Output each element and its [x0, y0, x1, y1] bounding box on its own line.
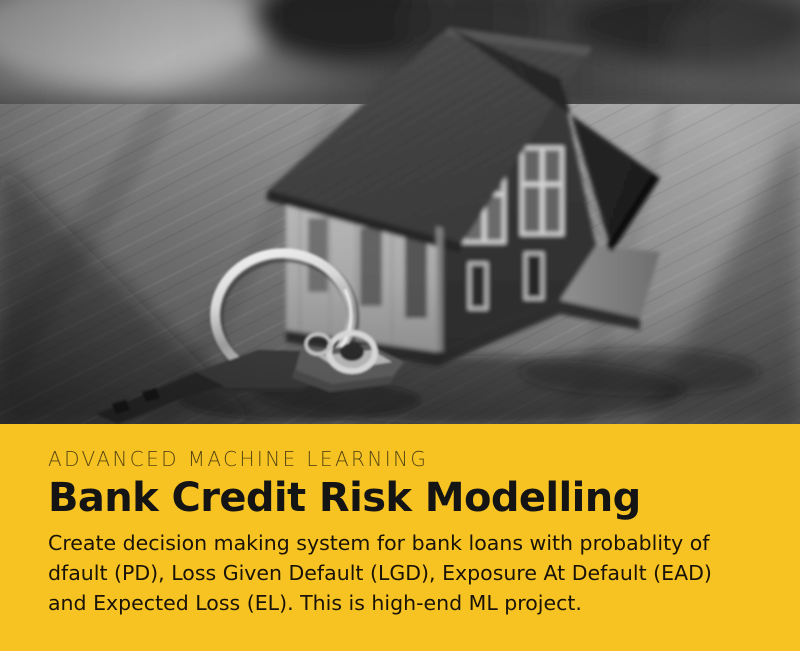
- description-line: dfault (PD), Loss Given Default (LGD), E…: [48, 558, 752, 588]
- card-description: Create decision making system for bank l…: [48, 528, 752, 618]
- course-promo-card: ADVANCED MACHINE LEARNING Bank Credit Ri…: [0, 0, 800, 651]
- info-band: ADVANCED MACHINE LEARNING Bank Credit Ri…: [0, 424, 800, 651]
- description-line: Create decision making system for bank l…: [48, 528, 752, 558]
- hero-photo: [0, 0, 800, 424]
- category-eyebrow: ADVANCED MACHINE LEARNING: [48, 448, 752, 470]
- page-title: Bank Credit Risk Modelling: [48, 476, 752, 521]
- description-line: and Expected Loss (EL). This is high-end…: [48, 588, 752, 618]
